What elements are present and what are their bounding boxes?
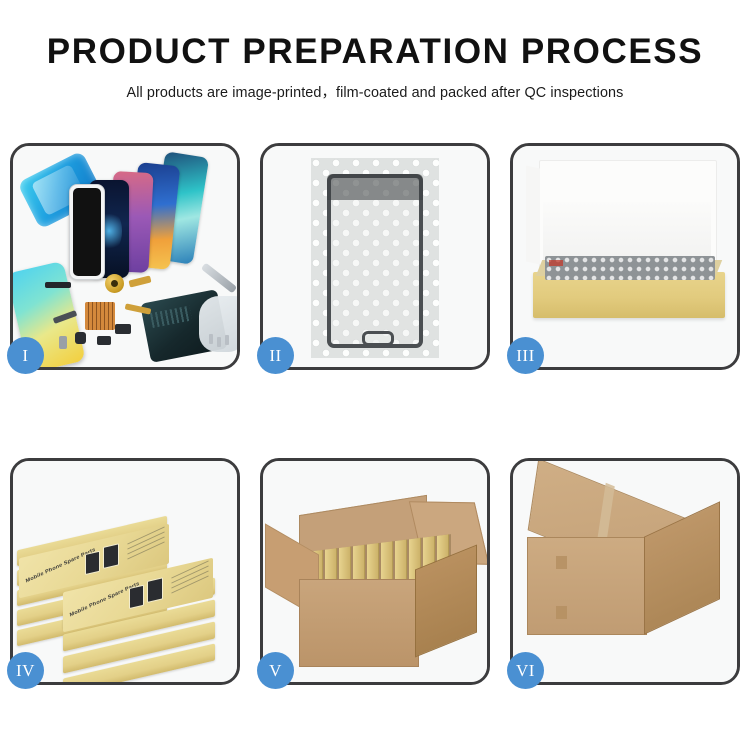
wrapped-screen-in-box	[545, 256, 715, 280]
box-phone-image-1	[85, 551, 100, 575]
step-panel-2: II	[260, 143, 490, 370]
step-2-image	[263, 146, 487, 367]
step-badge-1: I	[7, 337, 44, 374]
step-panel-5: V	[260, 458, 490, 685]
process-steps-grid: I II III	[10, 143, 740, 683]
product-preparation-infographic: PRODUCT PREPARATION PROCESS All products…	[0, 0, 750, 750]
speaker-coil-part	[105, 274, 124, 293]
wrapped-phone-screen	[327, 174, 423, 348]
step-badge-2: II	[257, 337, 294, 374]
sealed-carton-front	[527, 537, 647, 635]
copper-grid-part	[85, 302, 115, 330]
chip-part-3	[97, 336, 111, 345]
step-badge-6: VI	[507, 652, 544, 689]
carton-tab-lower	[556, 606, 567, 619]
screws-group	[209, 334, 235, 352]
step-badge-4: IV	[7, 652, 44, 689]
kraft-box-stack: Mobile Phone Spare Parts Mobile Phone Sp…	[15, 491, 237, 681]
carton-tab-upper	[556, 556, 567, 569]
step-4-image: Mobile Phone Spare Parts Mobile Phone Sp…	[13, 461, 237, 682]
earpiece-part	[45, 282, 71, 288]
step-panel-1: I	[10, 143, 240, 370]
carton-front-face	[299, 579, 419, 667]
header: PRODUCT PREPARATION PROCESS All products…	[0, 0, 750, 102]
step-badge-5: V	[257, 652, 294, 689]
box-phone-image-2	[103, 543, 119, 569]
page-subtitle: All products are image-printed，film-coat…	[0, 81, 750, 102]
step-6-image	[513, 461, 737, 682]
chip-part-4	[59, 336, 67, 349]
chip-part-1	[115, 324, 131, 334]
box-spec-line-5	[171, 560, 208, 578]
step-panel-4: Mobile Phone Spare Parts Mobile Phone Sp…	[10, 458, 240, 685]
step-5-image	[263, 461, 487, 682]
page-title: PRODUCT PREPARATION PROCESS	[0, 34, 750, 71]
bubble-wrap-film	[311, 158, 439, 358]
step-badge-3: III	[507, 337, 544, 374]
step-panel-6: VI	[510, 458, 740, 685]
phone-glass-panel	[69, 184, 105, 280]
step-panel-3: III	[510, 143, 740, 370]
step-1-image	[13, 146, 237, 367]
step-3-image	[513, 146, 737, 367]
box-phone-image-4	[147, 577, 163, 603]
chip-part-2	[75, 332, 86, 344]
box-phone-image-3	[129, 585, 144, 609]
kraft-box-tray	[533, 272, 725, 318]
